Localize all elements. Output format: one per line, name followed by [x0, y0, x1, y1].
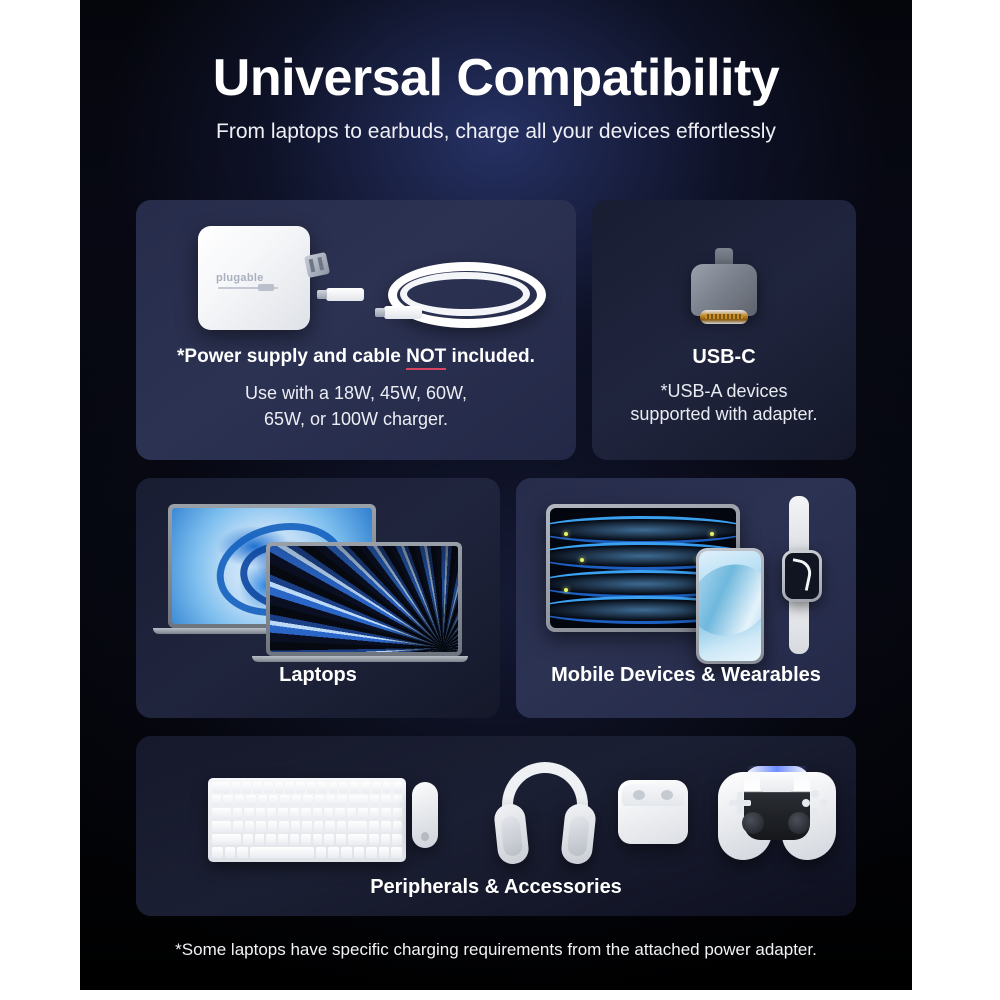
note-prefix: *Power supply and cable [177, 346, 406, 367]
smartphone-screen [699, 551, 761, 661]
usb-c-label: USB-C [592, 346, 856, 369]
laptops-illustration [160, 498, 450, 648]
smartwatch-icon [782, 496, 816, 654]
controller-stick-right [788, 812, 810, 834]
logo-mark [258, 284, 274, 291]
macbook-laptop-icon [266, 542, 468, 662]
screenshot-stage: Universal Compatibility From laptops to … [0, 0, 1000, 1000]
footnote: *Some laptops have specific charging req… [80, 940, 912, 960]
earbud-right [661, 790, 673, 800]
connector-body [691, 264, 757, 316]
controller-dpad [729, 792, 751, 814]
macbook-wallpaper-shading [270, 546, 458, 652]
power-supply-usage: Use with a 18W, 45W, 60W, 65W, or 100W c… [136, 380, 576, 432]
headphones-icon [492, 762, 598, 866]
smartphone-icon [696, 548, 764, 664]
card-mobile-devices[interactable]: Mobile Devices & Wearables [516, 478, 856, 718]
earbud-left [633, 790, 645, 800]
mouse-logo [421, 832, 429, 841]
laptops-label: Laptops [136, 664, 500, 687]
card-usb-c[interactable]: USB-C *USB-A devices supported with adap… [592, 200, 856, 460]
earbuds-case-lid [622, 784, 684, 806]
power-adapter-icon: plugable [198, 226, 310, 330]
mobile-devices-label: Mobile Devices & Wearables [516, 664, 856, 687]
watch-face [785, 553, 819, 599]
watch-case [782, 550, 822, 602]
macbook-lid [266, 542, 462, 656]
usage-line-1: Use with a 18W, 45W, 60W, [136, 380, 576, 406]
peripherals-label: Peripherals & Accessories [136, 876, 856, 899]
earbuds-case-icon [618, 780, 688, 844]
card-laptops[interactable]: Laptops [136, 478, 500, 718]
card-power-supply[interactable]: plugable *Power supply and cable NOT inc… [136, 200, 576, 460]
headphone-earcup-right [560, 803, 597, 866]
usb-c-connector-icon [691, 248, 757, 332]
usb-c-sublabel: *USB-A devices supported with adapter. [592, 380, 856, 426]
usb-c-sub-line-1: *USB-A devices [592, 380, 856, 403]
keyboard-icon [208, 778, 406, 862]
smartphone-wallpaper [699, 552, 761, 649]
game-controller-icon [718, 766, 836, 862]
mobile-devices-illustration [546, 496, 846, 656]
cable-connector-right [384, 306, 422, 319]
promo-panel: Universal Compatibility From laptops to … [80, 0, 912, 990]
macbook-base [252, 656, 468, 662]
note-emphasis: NOT [406, 346, 446, 370]
mouse-icon [412, 782, 438, 848]
cable-connector-left [326, 288, 364, 301]
controller-face-buttons [802, 790, 828, 816]
page-title: Universal Compatibility [80, 48, 912, 108]
card-peripherals[interactable]: Peripherals & Accessories [136, 736, 856, 916]
usb-c-cable-icon [326, 258, 531, 328]
usage-line-2: 65W, or 100W charger. [136, 406, 576, 432]
macbook-screen [270, 546, 458, 652]
plugable-logo: plugable [216, 272, 292, 284]
note-suffix: included. [446, 346, 535, 367]
connector-contacts [700, 310, 748, 324]
usb-c-sub-line-2: supported with adapter. [592, 403, 856, 426]
page-subtitle: From laptops to earbuds, charge all your… [80, 120, 912, 144]
power-supply-note: *Power supply and cable NOT included. [136, 346, 576, 368]
watch-face-graphic [787, 558, 814, 591]
controller-touchpad [760, 772, 794, 792]
controller-stick-left [742, 812, 764, 834]
